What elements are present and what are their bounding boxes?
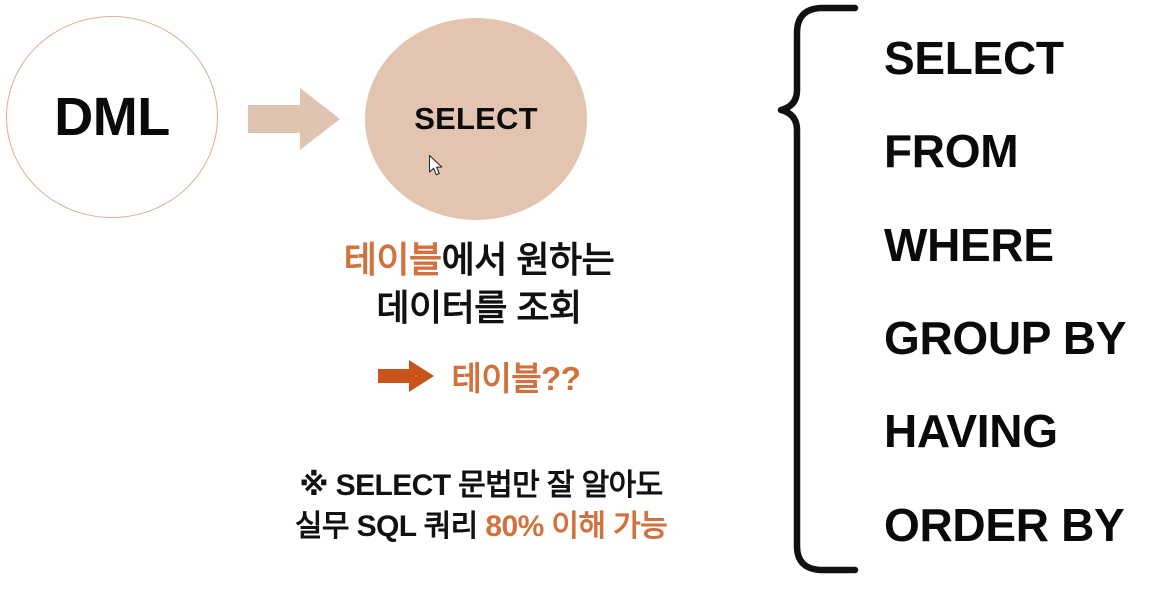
clause-item-order-by: ORDER BY (884, 502, 1167, 548)
clause-item-select: SELECT (884, 35, 1167, 81)
clause-item-where: WHERE (884, 222, 1167, 268)
right-arrow-icon (248, 88, 340, 150)
clause-item-having: HAVING (884, 408, 1167, 454)
sql-clause-list: SELECT FROM WHERE GROUP BY HAVING ORDER … (884, 0, 1167, 587)
note-highlight: 80% 이해 가능 (485, 510, 667, 543)
dml-label: DML (6, 16, 218, 218)
note-line-2: 실무 SQL 쿼리 80% 이해 가능 (196, 507, 766, 548)
description-text: 테이블에서 원하는 데이터를 조회 (228, 236, 730, 332)
left-curly-brace-icon (735, 0, 861, 587)
note-line-1: ※ SELECT 문법만 잘 알아도 (196, 466, 766, 507)
clause-item-from: FROM (884, 128, 1167, 174)
right-arrow-icon (378, 360, 434, 392)
note-text: ※ SELECT 문법만 잘 알아도 실무 SQL 쿼리 80% 이해 가능 (196, 466, 766, 547)
mouse-pointer-icon (429, 155, 445, 177)
select-circle-label: SELECT (365, 18, 587, 220)
description-line-1-rest: 에서 원하는 (442, 239, 615, 280)
clause-item-group-by: GROUP BY (884, 315, 1167, 361)
question-callout: 테이블?? (228, 352, 730, 400)
note-line-2-plain: 실무 SQL 쿼리 (295, 510, 486, 543)
description-line-1: 테이블에서 원하는 (228, 236, 730, 284)
slide-canvas: DML SELECT 테이블에서 원하는 데이터를 조회 테이블?? ※ SEL… (0, 0, 1167, 587)
question-text: 테이블?? (452, 352, 581, 400)
description-highlight: 테이블 (344, 239, 442, 280)
description-line-2: 데이터를 조회 (228, 284, 730, 332)
